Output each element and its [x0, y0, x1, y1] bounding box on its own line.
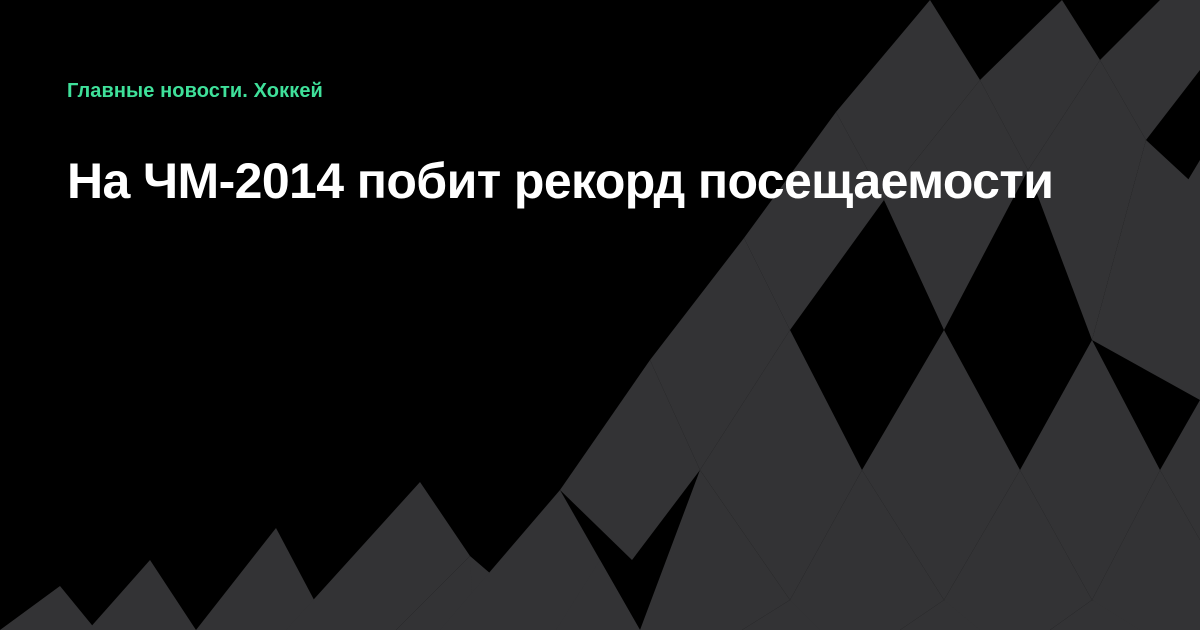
kicker-rubric: Главные новости. Хоккей [67, 79, 323, 103]
text-content-layer: Главные новости. Хоккей На ЧМ-2014 побит… [0, 0, 1200, 630]
headline-title: На ЧМ-2014 побит рекорд посещаемости [67, 152, 1053, 210]
news-share-card: Главные новости. Хоккей На ЧМ-2014 побит… [0, 0, 1200, 630]
